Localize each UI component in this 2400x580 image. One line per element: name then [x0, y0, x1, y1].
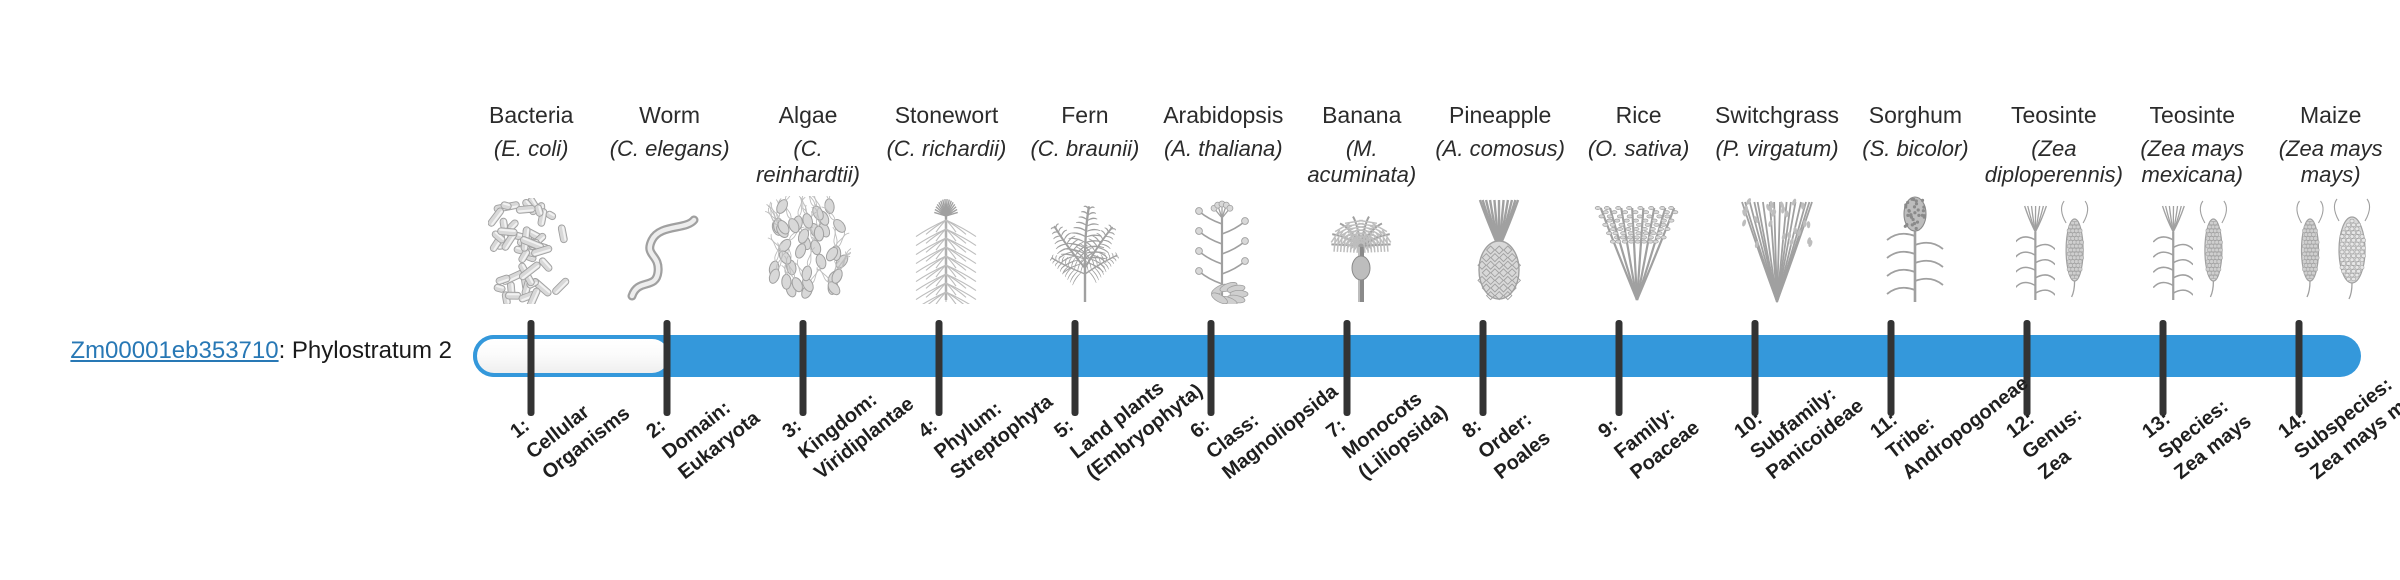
- species-common-name: Sorghum: [1869, 102, 1962, 130]
- stratum-label: 1:CellularOrganisms: [505, 360, 635, 486]
- phylostratum-figure: Zm00001eb353710: Phylostratum 2 Bacteria…: [0, 0, 2400, 580]
- species-column: Arabidopsis(A. thaliana): [1154, 0, 1292, 310]
- species-latin-name: (E. coli): [493, 136, 570, 194]
- species-common-name: Maize: [2300, 102, 2361, 130]
- species-latin-name: (Zea diploperennis): [1984, 136, 2124, 194]
- species-column: Worm(C. elegans): [600, 0, 738, 310]
- species-common-name: Teosinte: [2011, 102, 2097, 130]
- gene-label-separator: :: [279, 337, 292, 364]
- species-column: Fern(C. braunii): [1016, 0, 1154, 310]
- species-latin-name: (C. braunii): [1029, 136, 1140, 194]
- stratum-label: 2:Domain:Eukaryota: [641, 364, 765, 485]
- species-latin-name: (C. richardii): [886, 136, 1008, 194]
- fern-icon: [1016, 194, 1154, 304]
- phylostratum-value: Phylostratum 2: [292, 337, 452, 364]
- species-latin-name: (O. sativa): [1587, 136, 1690, 194]
- switchgrass-icon: [1708, 194, 1846, 304]
- species-latin-name: (M. acuminata): [1293, 136, 1431, 194]
- species-common-name: Pineapple: [1449, 102, 1551, 130]
- banana-icon: [1293, 194, 1431, 304]
- worm-icon: [600, 194, 738, 304]
- species-latin-name: (C. elegans): [609, 136, 731, 194]
- stonewort-icon: [877, 194, 1015, 304]
- sorghum-icon: [1846, 194, 1984, 304]
- teosinte-diplo-icon: [1985, 194, 2123, 304]
- species-common-name: Switchgrass: [1715, 102, 1839, 130]
- species-common-name: Fern: [1061, 102, 1108, 130]
- species-column: Maize(Zea mays mays): [2261, 0, 2399, 310]
- bacteria-icon: [462, 194, 600, 304]
- species-column: Banana(M. acuminata): [1293, 0, 1431, 310]
- species-common-name: Bacteria: [489, 102, 573, 130]
- species-column: Rice(O. sativa): [1569, 0, 1707, 310]
- species-latin-name: (C. reinhardtii): [739, 136, 877, 194]
- species-column: Teosinte(Zea mays mexicana): [2123, 0, 2261, 310]
- pineapple-icon: [1431, 194, 1569, 304]
- phylostratum-progress-bar[interactable]: [462, 335, 2400, 377]
- species-latin-name: (P. virgatum): [1714, 136, 1839, 194]
- species-latin-name: (A. comosus): [1434, 136, 1566, 194]
- species-latin-name: (Zea mays mays): [2261, 136, 2399, 194]
- species-latin-name: (Zea mays mexicana): [2123, 136, 2261, 194]
- species-column: Bacteria(E. coli): [462, 0, 600, 310]
- phylogeny-track-area: Bacteria(E. coli): [462, 0, 2400, 580]
- rice-icon: [1569, 194, 1707, 304]
- stratum-label: 7:Monocots(Liliopsida): [1321, 358, 1453, 485]
- species-common-name: Algae: [779, 102, 838, 130]
- species-common-name: Arabidopsis: [1163, 102, 1283, 130]
- stratum-label: 9:Family:Poaceae: [1593, 374, 1705, 485]
- species-column: Pineapple(A. comosus): [1431, 0, 1569, 310]
- maize-icon: [2261, 194, 2399, 304]
- species-latin-name: (S. bicolor): [1861, 136, 1969, 194]
- species-column: Stonewort(C. richardii): [877, 0, 1015, 310]
- gene-phylostratum-label: Zm00001eb353710: Phylostratum 2: [0, 337, 462, 366]
- gene-id-link[interactable]: Zm00001eb353710: [70, 337, 278, 364]
- species-column: Switchgrass(P. virgatum): [1708, 0, 1846, 310]
- species-column: Teosinte(Zea diploperennis): [1985, 0, 2123, 310]
- progress-bar-track: [473, 335, 2361, 377]
- species-common-name: Rice: [1616, 102, 1662, 130]
- arabidopsis-icon: [1154, 194, 1292, 304]
- species-column: Sorghum(S. bicolor): [1846, 0, 1984, 310]
- algae-icon: [739, 194, 877, 304]
- species-latin-name: (A. thaliana): [1163, 136, 1284, 194]
- species-common-name: Stonewort: [895, 102, 999, 130]
- species-common-name: Teosinte: [2149, 102, 2235, 130]
- species-column: Algae(C. reinhardtii): [739, 0, 877, 310]
- stratum-label: 8:Order:Poales: [1457, 384, 1556, 485]
- species-columns: Bacteria(E. coli): [462, 0, 2400, 310]
- teosinte-mexicana-icon: [2123, 194, 2261, 304]
- species-common-name: Worm: [639, 102, 700, 130]
- species-common-name: Banana: [1322, 102, 1401, 130]
- stratum-label: 13:Species:Zea mays: [2137, 368, 2257, 486]
